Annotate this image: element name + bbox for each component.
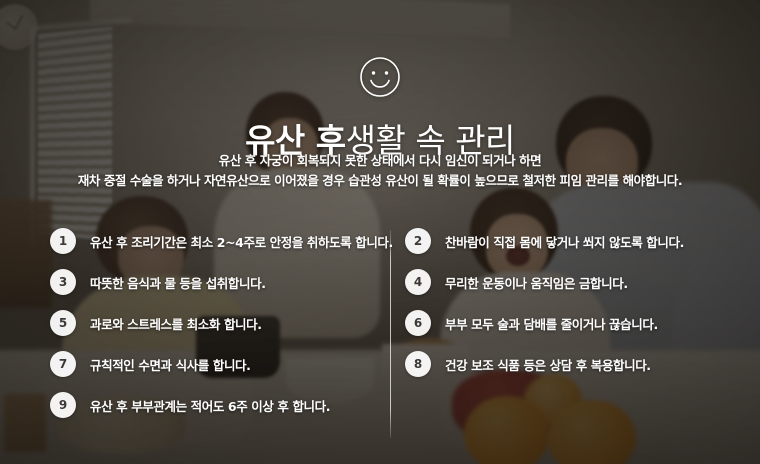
list-item: 7 규칙적인 수면과 식사를 합니다. xyxy=(50,351,380,377)
banner-content: 유산 후생활 속 관리 유산 후 자궁이 회복되지 못한 상태에서 다시 임신이… xyxy=(0,0,760,464)
item-number-badge: 7 xyxy=(50,351,76,377)
item-number-badge: 4 xyxy=(405,269,431,295)
column-divider xyxy=(390,230,391,438)
item-text: 따뜻한 음식과 물 등을 섭취합니다. xyxy=(90,273,266,292)
item-number-badge: 6 xyxy=(405,310,431,336)
subtitle-line-1: 유산 후 자궁이 회복되지 못한 상태에서 다시 임신이 되거나 하면 xyxy=(0,151,760,171)
item-number-badge: 1 xyxy=(50,228,76,254)
item-text: 무리한 운동이나 움직임은 금합니다. xyxy=(445,273,628,292)
banner-root: 유산 후생활 속 관리 유산 후 자궁이 회복되지 못한 상태에서 다시 임신이… xyxy=(0,0,760,464)
item-text: 규칙적인 수면과 식사를 합니다. xyxy=(90,355,251,374)
item-number-badge: 2 xyxy=(405,228,431,254)
list-item: 6 부부 모두 술과 담배를 줄이거나 끊습니다. xyxy=(405,310,735,336)
item-text: 유산 후 조리기간은 최소 2~4주로 안정을 취하도록 합니다. xyxy=(90,232,393,251)
list-item: 4 무리한 운동이나 움직임은 금합니다. xyxy=(405,269,735,295)
list-item: 8 건강 보조 식품 등은 상담 후 복용합니다. xyxy=(405,351,735,377)
item-number-badge: 3 xyxy=(50,269,76,295)
list-item: 1 유산 후 조리기간은 최소 2~4주로 안정을 취하도록 합니다. xyxy=(50,228,380,254)
list-item: 3 따뜻한 음식과 물 등을 섭취합니다. xyxy=(50,269,380,295)
item-number-badge: 5 xyxy=(50,310,76,336)
smiley-face-icon xyxy=(359,56,401,98)
smiley-face-icon-wrap xyxy=(0,56,760,98)
item-text: 찬바람이 직접 몸에 닿거나 쐬지 않도록 합니다. xyxy=(445,232,684,251)
guideline-column-left: 1 유산 후 조리기간은 최소 2~4주로 안정을 취하도록 합니다. 3 따뜻… xyxy=(50,228,380,433)
list-item: 5 과로와 스트레스를 최소화 합니다. xyxy=(50,310,380,336)
item-text: 과로와 스트레스를 최소화 합니다. xyxy=(90,314,262,333)
page-subtitle: 유산 후 자궁이 회복되지 못한 상태에서 다시 임신이 되거나 하면 재차 중… xyxy=(0,151,760,191)
subtitle-line-2: 재차 중절 수술을 하거나 자연유산으로 이어졌을 경우 습관성 유산이 될 확… xyxy=(0,171,760,191)
list-item: 2 찬바람이 직접 몸에 닿거나 쐬지 않도록 합니다. xyxy=(405,228,735,254)
list-item: 9 유산 후 부부관계는 적어도 6주 이상 후 합니다. xyxy=(50,392,380,418)
item-text: 건강 보조 식품 등은 상담 후 복용합니다. xyxy=(445,355,651,374)
item-number-badge: 8 xyxy=(405,351,431,377)
item-number-badge: 9 xyxy=(50,392,76,418)
guideline-column-right: 2 찬바람이 직접 몸에 닿거나 쐬지 않도록 합니다. 4 무리한 운동이나 … xyxy=(405,228,735,392)
item-text: 부부 모두 술과 담배를 줄이거나 끊습니다. xyxy=(445,314,658,333)
item-text: 유산 후 부부관계는 적어도 6주 이상 후 합니다. xyxy=(90,396,330,415)
